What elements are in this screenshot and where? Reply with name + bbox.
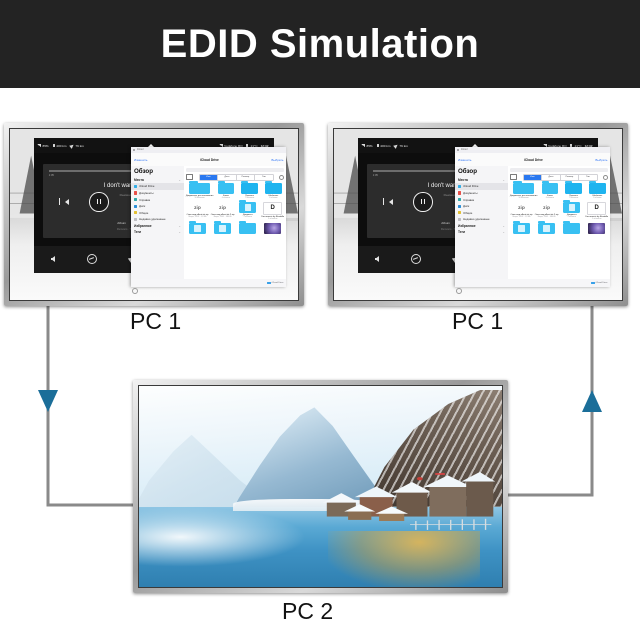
search-input[interactable] [510, 168, 609, 173]
sidebar-item-shared[interactable]: Общие [131, 209, 184, 216]
sidebar-item-label: Документы [139, 191, 153, 195]
sort-option-size[interactable]: Размер [237, 175, 256, 179]
files-sidebar: Обзор Места ⌄ iCloud Drive Документы [455, 166, 508, 279]
file-grid-row-3 [186, 223, 285, 234]
file-grid-row-2: zip Опис.вид.albert.txt.zip Вчера, 14:02… [186, 202, 285, 220]
file-meta-label: 2 объекта [568, 216, 576, 218]
file-item[interactable] [261, 223, 285, 234]
help-icon [134, 198, 137, 201]
drive-icon [458, 205, 461, 208]
data-usage-indicator: 400 km [53, 144, 67, 148]
file-meta-label: 7 объектов [569, 197, 578, 199]
sidebar-group-label: Теги [134, 230, 141, 234]
file-item[interactable]: D Documents by Readdle 5 объектов [261, 202, 284, 220]
file-item[interactable]: Проекты 7 объектов [239, 183, 261, 199]
sort-option-name[interactable]: Имя [524, 175, 543, 179]
chevron-down-icon: ⌄ [503, 225, 505, 228]
sort-option-size[interactable]: Размер [561, 175, 580, 179]
page-title: EDID Simulation [161, 22, 480, 67]
photo-golden-reflection [328, 531, 480, 587]
footer-location-tag: iCloud Drive [267, 282, 283, 285]
files-navbar: Изменить iCloud Drive Выбрать [455, 153, 611, 166]
sidebar-item-label: Документы [463, 191, 477, 195]
files-footer: iCloud Drive [131, 279, 287, 287]
zip-archive-icon: zip [513, 202, 530, 213]
files-sidebar-title: Обзор [455, 168, 508, 175]
folder-icon [542, 183, 558, 194]
folder-icon [589, 183, 605, 194]
winter-lake-photo [139, 386, 502, 587]
app-dot-icon [457, 149, 459, 151]
select-button[interactable]: Выбрать [595, 158, 607, 162]
sort-option-kind[interactable]: Тип [579, 175, 597, 179]
document-icon [458, 191, 461, 194]
compass-icon[interactable] [87, 254, 97, 264]
sidebar-item-documents[interactable]: Документы [455, 190, 508, 197]
file-item[interactable]: Документ 2 объекта [236, 202, 259, 220]
folder-icon [565, 183, 581, 194]
file-item[interactable]: Книги 4 объекта [215, 183, 237, 199]
sidebar-group-label: Теги [458, 230, 465, 234]
file-meta-label: 3 объекта [269, 197, 277, 199]
folder-icon [241, 183, 257, 194]
files-content-pane: Имя Дата Размер Тип Документы для наложе… [184, 166, 287, 279]
folder-icon [189, 223, 206, 234]
folder-document-icon [239, 202, 256, 213]
files-sidebar-title: Обзор [131, 168, 184, 175]
elapsed-time-label: 1:05 [49, 174, 54, 177]
photo-lake-reflection [139, 507, 306, 567]
shared-icon [458, 211, 461, 214]
files-navbar: Изменить iCloud Drive Выбрать [131, 153, 287, 166]
sidebar-item-shared[interactable]: Общие [455, 209, 508, 216]
files-toolbar: Имя Дата Размер Тип [510, 174, 609, 180]
file-meta-label: 3 объекта [593, 197, 601, 199]
signal-strength-icon: 85% [37, 144, 48, 148]
album-label: Album [117, 221, 126, 225]
sidebar-item-label: iCloud Drive [463, 184, 478, 188]
file-meta-label: 4 объекта [546, 197, 554, 199]
sidebar-item-recently-deleted[interactable]: Недавно удаленные [455, 216, 508, 223]
edit-button[interactable]: Изменить [458, 158, 472, 162]
sidebar-item-drive[interactable]: Диск [131, 203, 184, 210]
files-app-window[interactable]: iCloud Изменить iCloud Drive Выбрать Обз… [131, 147, 287, 287]
chevron-down-icon: ⌄ [179, 225, 181, 228]
sidebar-group-label: Места [458, 178, 468, 182]
document-icon [134, 191, 137, 194]
files-nav-title: iCloud Drive [200, 158, 219, 162]
back-arrow-icon[interactable] [51, 256, 55, 262]
sort-option-name[interactable]: Имя [200, 175, 219, 179]
folder-mini-icon [591, 282, 594, 285]
signal-strength-icon: 85% [361, 144, 372, 148]
folder-icon [563, 223, 580, 234]
sidebar-group-tags[interactable]: Теги ⌄ [455, 229, 508, 235]
zip-archive-icon: zip [189, 202, 206, 213]
view-grid-icon[interactable] [186, 174, 193, 180]
label-pc1-left: PC 1 [130, 308, 181, 335]
sort-segmented-control[interactable]: Имя Дата Размер Тип [199, 174, 274, 180]
folder-icon [265, 183, 281, 194]
drive-icon [134, 205, 137, 208]
monitor-pc1-left[interactable]: 85% 400 km 76 km Vodafone RO 21°C 12:32 [4, 123, 304, 306]
sidebar-item-label: Справка [139, 198, 150, 202]
folder-icon [239, 223, 256, 234]
footer-location-tag: iCloud Drive [591, 282, 607, 285]
previous-track-icon[interactable] [389, 199, 393, 205]
file-meta-label: 4 объекта [222, 197, 230, 199]
sidebar-item-recently-deleted[interactable]: Недавно удаленные [131, 216, 184, 223]
file-grid-row-3 [510, 223, 609, 234]
chevron-down-icon: ⌄ [503, 179, 505, 182]
sidebar-item-label: Общие [463, 211, 472, 215]
sidebar-item-label: Недавно удаленные [463, 217, 489, 221]
arrow-head-down-icon [38, 390, 58, 412]
sidebar-item-icloud-drive[interactable]: iCloud Drive [455, 183, 508, 190]
chevron-down-icon: ⌄ [179, 231, 181, 234]
monitor-pc1-right[interactable]: 85% 400 km 76 km Vodafone RO 21°C 12:32 [328, 123, 628, 306]
sidebar-item-label: Справка [463, 198, 474, 202]
shared-icon [134, 211, 137, 214]
file-item[interactable] [560, 223, 584, 234]
file-item[interactable]: D Documents by Readdle 5 объектов [585, 202, 608, 220]
edit-button[interactable]: Изменить [134, 158, 148, 162]
data-usage-indicator: 400 km [377, 144, 391, 148]
cloud-icon [458, 185, 461, 188]
files-toolbar: Имя Дата Размер Тип [186, 174, 285, 180]
sidebar-group-label: Избранное [134, 224, 152, 228]
player-artwork-panel: 1:05 I don't wanna Fleetwood Mac Album R… [367, 164, 469, 238]
file-item[interactable]: Документы для наложения 10 объектов [186, 183, 213, 199]
files-sidebar: Обзор Места ⌄ iCloud Drive Документы [131, 166, 184, 279]
view-grid-icon[interactable] [510, 174, 517, 180]
more-options-icon[interactable] [603, 175, 608, 180]
folder-icon [513, 223, 530, 234]
documents-app-icon: D [587, 202, 606, 215]
sidebar-group-label: Избранное [458, 224, 476, 228]
file-meta-label: 2 объекта [244, 216, 252, 218]
label-pc1-right: PC 1 [452, 308, 503, 335]
sidebar-group-label: Места [134, 178, 144, 182]
files-topbar-app-label: iCloud [137, 149, 144, 151]
player-artwork-panel: 1:05 I don't wanna Fleetwood Mac Album R… [43, 164, 145, 238]
sidebar-group-tags[interactable]: Теги ⌄ [131, 229, 184, 235]
folder-mini-icon [267, 282, 270, 285]
label-pc2: PC 2 [282, 598, 333, 625]
sidebar-item-icloud-drive[interactable]: iCloud Drive [131, 183, 184, 190]
connector-line-right [508, 306, 592, 495]
file-item[interactable] [236, 223, 260, 234]
file-meta-label: 5 объектов [592, 218, 601, 220]
monitor-screen-pc2 [138, 385, 503, 588]
files-content-pane: Имя Дата Размер Тип Документы для наложе… [508, 166, 611, 279]
seek-bar[interactable] [49, 170, 138, 171]
folder-icon [189, 183, 209, 194]
folder-icon [538, 223, 555, 234]
folder-icon [218, 183, 234, 194]
footer-location-label: iCloud Drive [272, 282, 284, 284]
sidebar-item-label: Общие [139, 211, 148, 215]
page-header-banner: EDID Simulation [0, 0, 640, 88]
file-item[interactable]: zip Опис.вид.albert.txt.zip Вчера, 14:02… [510, 202, 533, 220]
file-item[interactable]: Шаблоны 3 объекта [262, 183, 284, 199]
file-item[interactable] [211, 223, 235, 234]
select-button[interactable]: Выбрать [271, 158, 283, 162]
previous-track-icon[interactable] [65, 199, 69, 205]
file-meta-label: 10 объектов [194, 197, 204, 199]
file-grid-row-1: Документы для наложения 10 объектов Книг… [186, 183, 285, 199]
sort-option-kind[interactable]: Тип [255, 175, 273, 179]
sidebar-item-label: iCloud Drive [139, 184, 154, 188]
back-arrow-icon[interactable] [375, 256, 379, 262]
pause-icon[interactable] [89, 192, 108, 212]
sort-segmented-control[interactable]: Имя Дата Размер Тип [523, 174, 598, 180]
file-grid-row-1: Документы для наложения 10 объектов Книг… [510, 183, 609, 199]
search-input[interactable] [186, 168, 285, 173]
chevron-down-icon: ⌄ [179, 179, 181, 182]
elapsed-time-label: 1:05 [373, 174, 378, 177]
folder-icon [513, 183, 533, 194]
chevron-down-icon: ⌄ [503, 231, 505, 234]
cloud-icon [134, 185, 137, 188]
navigation-distance-indicator: 76 km [394, 144, 407, 148]
files-app-window[interactable]: iCloud Изменить iCloud Drive Выбрать Обз… [455, 147, 611, 287]
pause-icon[interactable] [413, 192, 432, 212]
monitor-screen-pc1-right: 85% 400 km 76 km Vodafone RO 21°C 12:32 [333, 128, 623, 301]
file-item[interactable] [585, 223, 609, 234]
compass-icon[interactable] [411, 254, 421, 264]
image-thumbnail [588, 223, 605, 234]
navigation-distance-indicator: 76 km [70, 144, 83, 148]
file-item[interactable]: zip Опис.вид.albert.txt.zip Вчера, 14:02… [186, 202, 209, 220]
photo-village [321, 462, 495, 534]
file-item[interactable]: Документы для наложения 10 объектов [510, 183, 537, 199]
file-item[interactable]: Шаблоны 3 объекта [586, 183, 608, 199]
files-footer: iCloud Drive [455, 279, 611, 287]
file-meta-label: Вчера, 13:41 · 980 КБ [214, 216, 232, 218]
sidebar-item-drive[interactable]: Диск [455, 203, 508, 210]
footer-location-label: iCloud Drive [596, 282, 608, 284]
file-meta-label: 7 объектов [245, 197, 254, 199]
file-meta-label: 10 объектов [518, 197, 528, 199]
file-meta-label: Вчера, 14:02 · 1,2 МБ [189, 216, 207, 218]
sidebar-item-help[interactable]: Справка [455, 196, 508, 203]
documents-app-icon: D [263, 202, 282, 215]
arrow-head-up-icon [582, 390, 602, 412]
zip-archive-icon: zip [538, 202, 556, 213]
file-grid-row-2: zip Опис.вид.albert.txt.zip Вчера, 14:02… [510, 202, 609, 220]
file-meta-label: 5 объектов [268, 218, 277, 220]
file-item[interactable]: Документ 2 объекта [560, 202, 583, 220]
files-nav-title: iCloud Drive [524, 158, 543, 162]
sort-option-date[interactable]: Дата [542, 175, 561, 179]
folder-document-icon [563, 202, 580, 213]
file-meta-label: Вчера, 13:41 · 980 КБ [538, 216, 556, 218]
file-item[interactable]: Проекты 7 объектов [563, 183, 585, 199]
seek-bar[interactable] [373, 170, 462, 171]
sidebar-item-help[interactable]: Справка [131, 196, 184, 203]
zip-archive-icon: zip [214, 202, 232, 213]
file-item[interactable]: zip Опис.вид.albert.txt.2.zip Вчера, 13:… [535, 202, 559, 220]
sidebar-item-documents[interactable]: Документы [131, 190, 184, 197]
sidebar-item-label: Диск [463, 204, 469, 208]
file-meta-label: Вчера, 14:02 · 1,2 МБ [513, 216, 531, 218]
trash-icon [134, 218, 137, 221]
monitor-screen-pc1-left: 85% 400 km 76 km Vodafone RO 21°C 12:32 [9, 128, 299, 301]
file-item[interactable] [535, 223, 559, 234]
files-topbar-app-label: iCloud [461, 149, 468, 151]
file-item[interactable] [510, 223, 534, 234]
file-item[interactable] [186, 223, 210, 234]
sidebar-item-label: Диск [139, 204, 145, 208]
file-item[interactable]: zip Опис.вид.albert.txt.2.zip Вчера, 13:… [211, 202, 235, 220]
sidebar-item-label: Недавно удаленные [139, 217, 165, 221]
album-label: Album [441, 221, 450, 225]
more-options-icon[interactable] [279, 175, 284, 180]
help-icon [458, 198, 461, 201]
image-thumbnail [264, 223, 281, 234]
folder-icon [214, 223, 231, 234]
sort-option-date[interactable]: Дата [218, 175, 237, 179]
connector-line-left [48, 306, 133, 505]
app-dot-icon [133, 149, 135, 151]
file-item[interactable]: Книги 4 объекта [539, 183, 561, 199]
trash-icon [458, 218, 461, 221]
monitor-pc2[interactable] [133, 380, 508, 593]
